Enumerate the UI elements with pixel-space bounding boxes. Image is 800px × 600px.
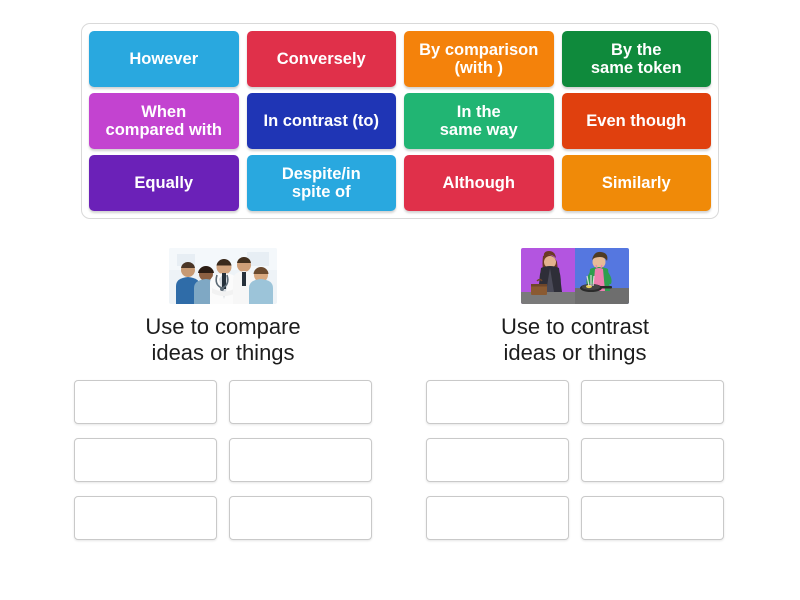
dropzone-grid-compare — [68, 380, 378, 540]
tile-label: Similarly — [602, 174, 671, 192]
word-tile-in-the-same-way[interactable]: In the same way — [404, 93, 554, 149]
word-tile-however[interactable]: However — [89, 31, 239, 87]
dropzone[interactable] — [74, 380, 217, 424]
medical-team-photo — [169, 248, 277, 304]
tile-label-line1: By the — [591, 41, 682, 59]
tile-label-line1: In the — [440, 103, 518, 121]
tile-row: When compared with In contrast (to) In t… — [89, 93, 711, 149]
category-title-line2: ideas or things — [420, 340, 730, 366]
word-tile-when-compared-with[interactable]: When compared with — [89, 93, 239, 149]
category-title-line1: Use to compare — [68, 314, 378, 340]
tile-row: Equally Despite/in spite of Although Sim… — [89, 155, 711, 211]
dropzone[interactable] — [581, 438, 724, 482]
tile-label: Even though — [586, 112, 686, 130]
word-tile-equally[interactable]: Equally — [89, 155, 239, 211]
dropzone[interactable] — [229, 380, 372, 424]
dropzone[interactable] — [74, 438, 217, 482]
dropzone[interactable] — [426, 496, 569, 540]
word-tile-bank: However Conversely By comparison (with )… — [81, 23, 719, 219]
tile-label: However — [129, 50, 198, 68]
tile-label: Conversely — [277, 50, 366, 68]
category-title-line2: ideas or things — [68, 340, 378, 366]
tile-label-line2: same token — [591, 59, 682, 77]
word-tile-despite-in-spite-of[interactable]: Despite/in spite of — [247, 155, 397, 211]
dropzone[interactable] — [426, 380, 569, 424]
dropzone[interactable] — [581, 380, 724, 424]
category-title-line1: Use to contrast — [420, 314, 730, 340]
tile-label-line1: When — [106, 103, 222, 121]
word-tile-conversely[interactable]: Conversely — [247, 31, 397, 87]
tile-label: In contrast (to) — [264, 112, 380, 130]
word-tile-even-though[interactable]: Even though — [562, 93, 712, 149]
tile-label: Although — [443, 174, 515, 192]
tile-label-line2: compared with — [106, 121, 222, 139]
business-vs-cooking-illustration — [521, 248, 629, 304]
dropzone[interactable] — [74, 496, 217, 540]
dropzone[interactable] — [229, 438, 372, 482]
word-tile-by-the-same-token[interactable]: By the same token — [562, 31, 712, 87]
tile-label-line1: Despite/in — [282, 165, 361, 183]
category-title-compare: Use to compare ideas or things — [68, 314, 378, 367]
dropzone[interactable] — [229, 496, 372, 540]
dropzone[interactable] — [426, 438, 569, 482]
dropzone-grid-contrast — [420, 380, 730, 540]
tile-label-line2: same way — [440, 121, 518, 139]
tile-label-line1: By comparison — [419, 41, 538, 59]
word-tile-by-comparison-with[interactable]: By comparison (with ) — [404, 31, 554, 87]
word-tile-although[interactable]: Although — [404, 155, 554, 211]
category-title-contrast: Use to contrast ideas or things — [420, 314, 730, 367]
dropzone[interactable] — [581, 496, 724, 540]
tile-label-line2: spite of — [282, 183, 361, 201]
word-tile-in-contrast-to[interactable]: In contrast (to) — [247, 93, 397, 149]
tile-row: However Conversely By comparison (with )… — [89, 31, 711, 87]
tile-label: Equally — [134, 174, 193, 192]
category-contrast: Use to contrast ideas or things — [420, 248, 730, 540]
tile-label-line2: (with ) — [419, 59, 538, 77]
word-tile-similarly[interactable]: Similarly — [562, 155, 712, 211]
category-compare: Use to compare ideas or things — [68, 248, 378, 540]
